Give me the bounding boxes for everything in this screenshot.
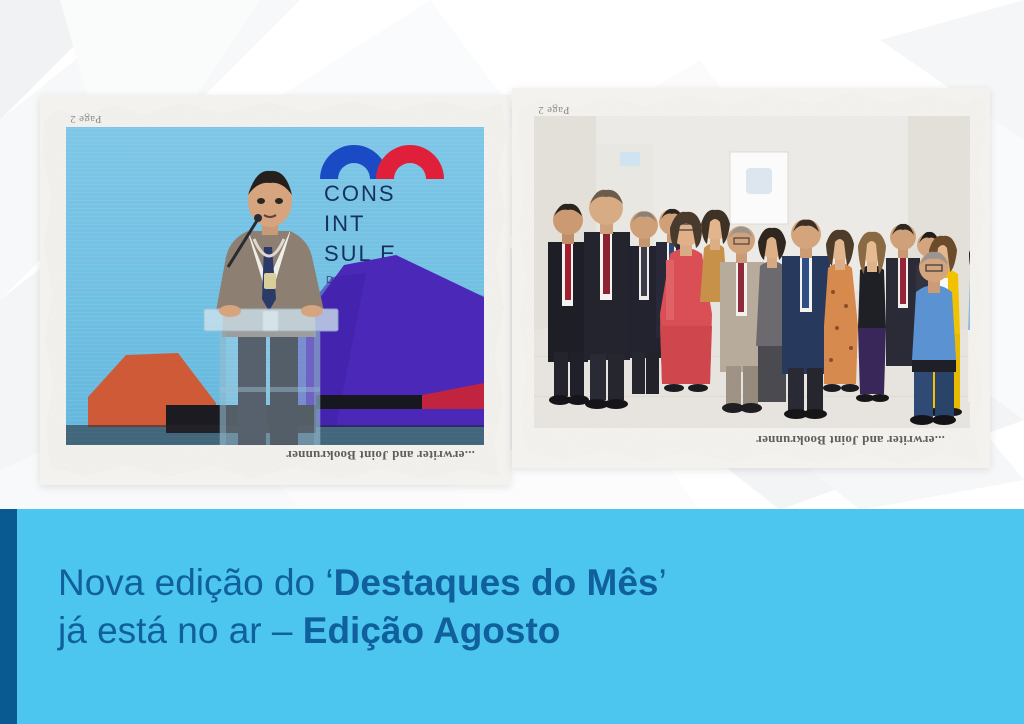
caption-line-1: Nova edição do ‘Destaques do Mês’: [58, 559, 667, 607]
speaker-photo-image: CONS INT SUL E DIALOGAR ESPÍR: [66, 127, 484, 445]
caption-line1-prefix: Nova edição do ‘: [58, 562, 334, 603]
caption-line1-bold: Destaques do Mês: [334, 562, 659, 603]
band-accent-bar: [0, 509, 17, 724]
caption-line1-suffix: ’: [659, 562, 667, 603]
caption-band: Nova edição do ‘Destaques do Mês’ já est…: [0, 509, 1024, 724]
caption-line2-bold: Edição Agosto: [303, 610, 561, 651]
group-photo-image: [534, 116, 970, 428]
caption-line2-prefix: já está no ar –: [58, 610, 303, 651]
caption-text: Nova edição do ‘Destaques do Mês’ já est…: [58, 559, 667, 655]
speaker-figure: [186, 161, 356, 445]
group-photo-scene: [534, 116, 970, 428]
photo-speaker-podium: CONS INT SUL E DIALOGAR ESPÍR: [40, 95, 510, 485]
photo-group-portrait: Page 2 ...erwriter and Joint Bookrunner: [512, 88, 990, 468]
promo-banner-page: CONS INT SUL E DIALOGAR ESPÍR: [0, 0, 1024, 724]
caption-line-2: já está no ar – Edição Agosto: [58, 607, 667, 655]
